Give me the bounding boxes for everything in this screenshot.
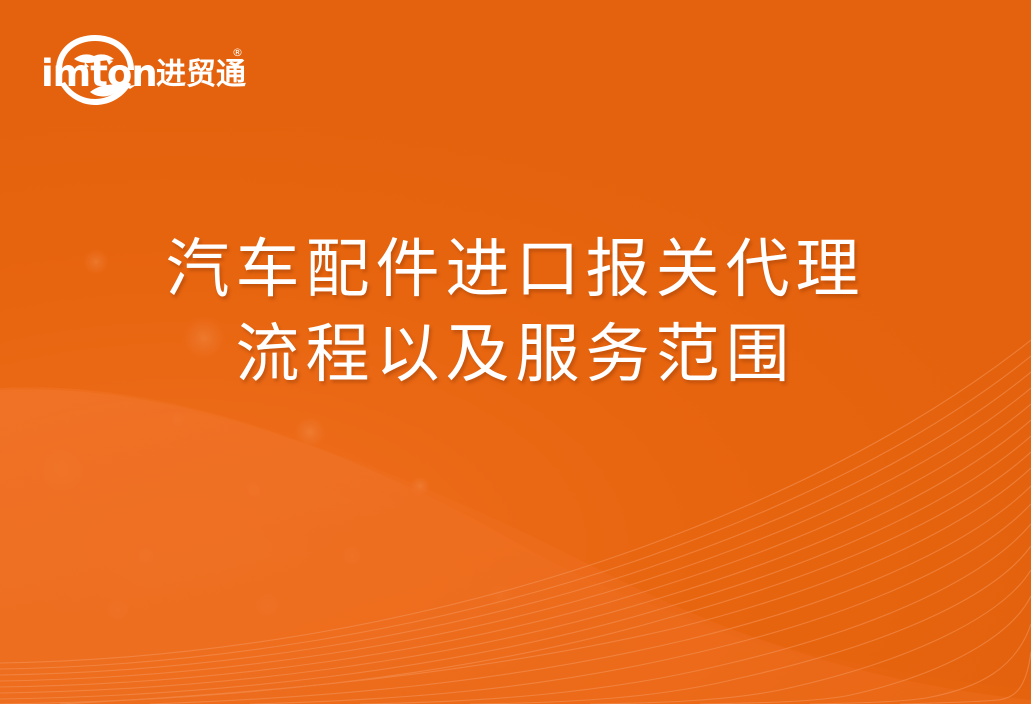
title-line-2: 流程以及服务范围 bbox=[0, 313, 1031, 398]
title-line-1: 汽车配件进口报关代理 bbox=[0, 228, 1031, 313]
promo-banner: imton 进贸通 ® 汽车配件进口报关代理 流程以及服务范围 bbox=[0, 0, 1031, 704]
trademark-symbol: ® bbox=[232, 46, 243, 59]
brand-logo[interactable]: imton 进贸通 ® bbox=[38, 26, 248, 106]
logo-latin-text: imton bbox=[41, 52, 157, 95]
logo-cn-text: 进贸通 bbox=[156, 57, 246, 92]
page-title: 汽车配件进口报关代理 流程以及服务范围 bbox=[0, 228, 1031, 398]
